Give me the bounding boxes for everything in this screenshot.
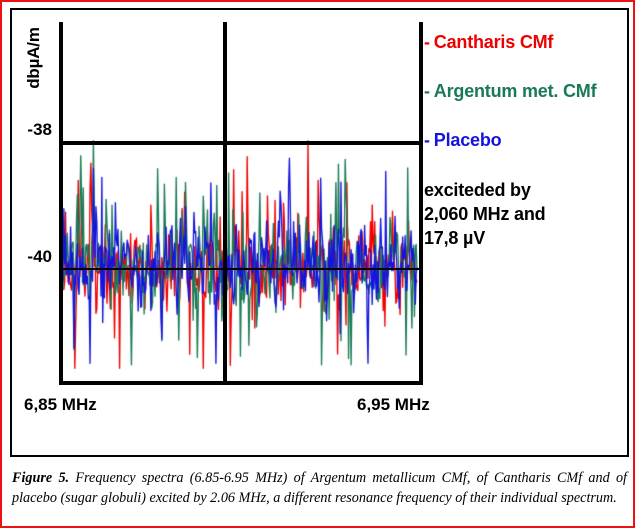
y-tick-minus38: -38 <box>27 120 52 140</box>
legend-item-placebo: -Placebo <box>424 130 624 151</box>
gridline-minus40 <box>59 268 423 270</box>
legend-label-placebo: Placebo <box>434 130 502 150</box>
legend-dash-icon-cantharis: - <box>424 32 430 52</box>
y-axis-ticks: -38 -40 <box>12 10 52 455</box>
axis-left-spine <box>59 22 63 385</box>
gridline-minus38 <box>59 141 423 145</box>
axis-bottom-spine <box>59 381 423 385</box>
legend-label-cantharis: Cantharis CMf <box>434 32 553 52</box>
legend-dash-icon-argentum: - <box>424 81 430 101</box>
excitation-line-1: exciteded by <box>424 179 624 203</box>
legend-dash-icon-placebo: - <box>424 130 430 150</box>
spectrum-traces-canvas <box>59 22 423 385</box>
figure-caption-text: Frequency spectra (6.85-6.95 MHz) of Arg… <box>12 470 627 506</box>
vertical-divider <box>223 22 227 385</box>
legend-item-argentum: -Argentum met. CMf <box>424 81 624 102</box>
legend-label-argentum: Argentum met. CMf <box>434 81 597 101</box>
excitation-annotation: exciteded by 2,060 MHz and 17,8 µV <box>424 179 624 250</box>
chart-legend: -Cantharis CMf -Argentum met. CMf -Place… <box>424 32 624 250</box>
spectrum-chart: dbµA/m -38 -40 6,85 MHz 6,95 MHz -Cantha… <box>12 10 627 455</box>
figure-box: dbµA/m -38 -40 6,85 MHz 6,95 MHz -Cantha… <box>10 8 629 457</box>
axis-right-spine <box>419 22 423 385</box>
plot-area <box>59 22 423 385</box>
y-tick-minus40: -40 <box>27 247 52 267</box>
excitation-line-3: 17,8 µV <box>424 227 624 251</box>
figure-caption-label: Figure 5. <box>12 470 69 486</box>
figure-page: dbµA/m -38 -40 6,85 MHz 6,95 MHz -Cantha… <box>0 0 635 528</box>
legend-item-cantharis: -Cantharis CMf <box>424 32 624 53</box>
figure-caption: Figure 5. Frequency spectra (6.85-6.95 M… <box>12 468 627 508</box>
x-tick-start: 6,85 MHz <box>24 395 97 415</box>
x-tick-end: 6,95 MHz <box>357 395 430 415</box>
excitation-line-2: 2,060 MHz and <box>424 203 624 227</box>
